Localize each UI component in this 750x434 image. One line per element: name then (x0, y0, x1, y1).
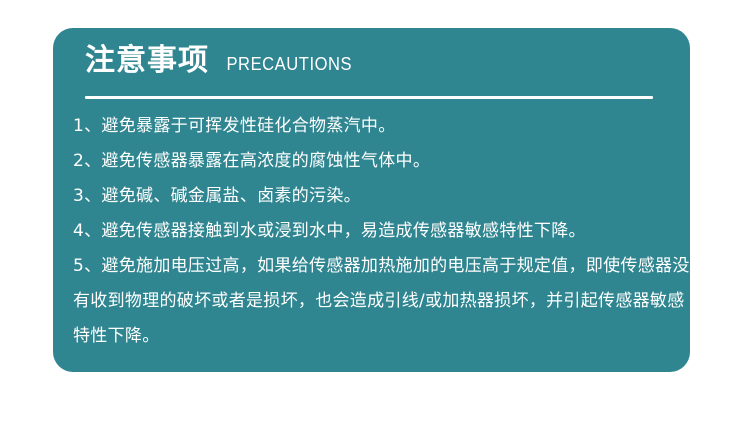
page-root: 注意事项 PRECAUTIONS 1、避免暴露于可挥发性硅化合物蒸汽中。 2、避… (0, 0, 750, 434)
list-item: 2、避免传感器暴露在高浓度的腐蚀性气体中。 (73, 144, 676, 179)
header-divider (85, 96, 653, 99)
precautions-list: 1、避免暴露于可挥发性硅化合物蒸汽中。 2、避免传感器暴露在高浓度的腐蚀性气体中… (73, 109, 676, 354)
list-item: 3、避免碱、碱金属盐、卤素的污染。 (73, 179, 676, 214)
panel-header: 注意事项 PRECAUTIONS (85, 46, 358, 76)
list-item: 1、避免暴露于可挥发性硅化合物蒸汽中。 (73, 109, 676, 144)
list-item: 4、避免传感器接触到水或浸到水中，易造成传感器敏感特性下降。 (73, 214, 676, 249)
page-title-chinese: 注意事项 (85, 46, 209, 76)
precautions-panel: 注意事项 PRECAUTIONS 1、避免暴露于可挥发性硅化合物蒸汽中。 2、避… (53, 28, 690, 372)
list-item: 5、避免施加电压过高，如果给传感器加热施加的电压高于规定值，即使传感器没有收到物… (73, 249, 698, 354)
page-title-english: PRECAUTIONS (226, 55, 352, 73)
